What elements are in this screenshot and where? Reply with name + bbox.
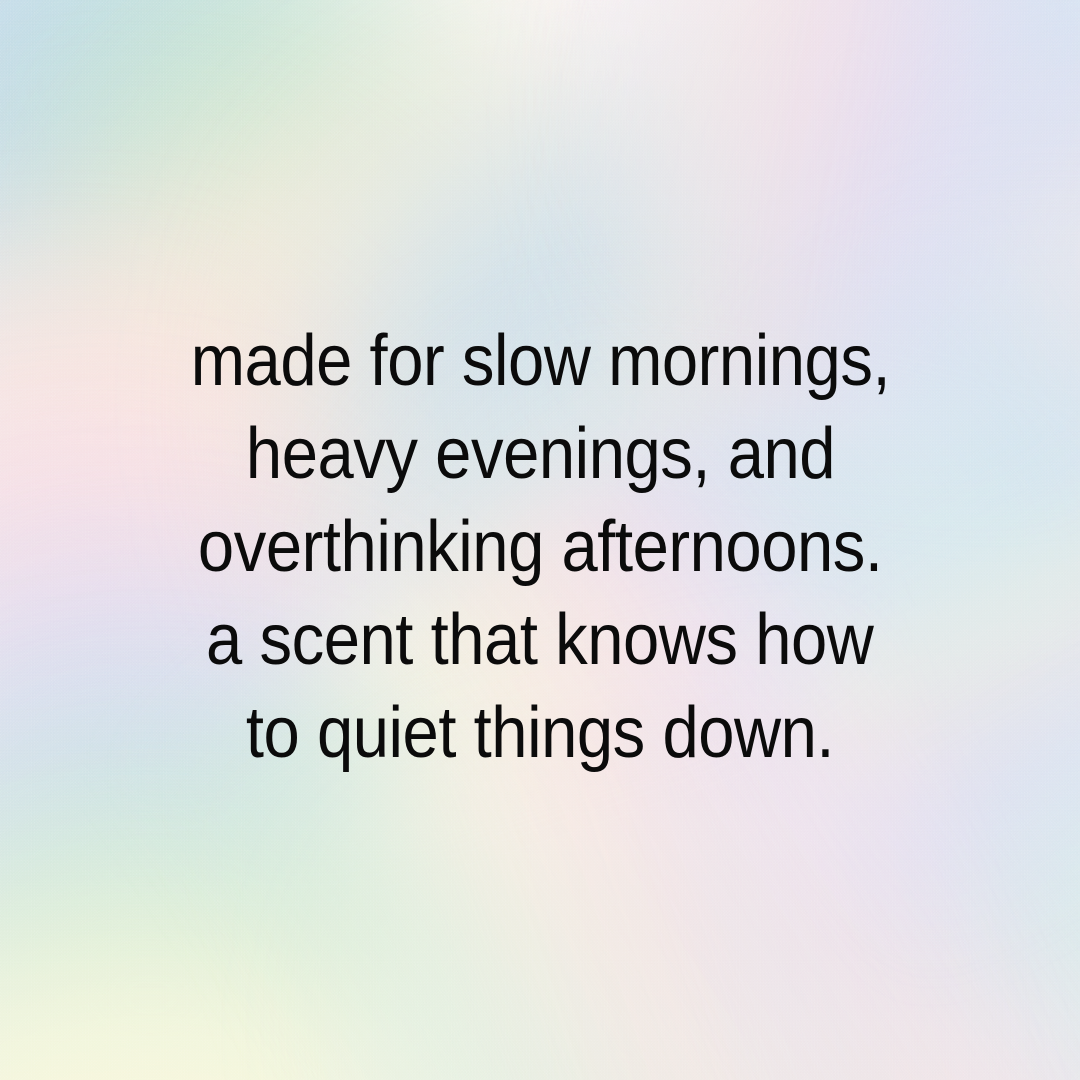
quote-line-4: a scent that knows how xyxy=(206,594,873,687)
quote-block: made for slow mornings, heavy evenings, … xyxy=(0,0,1080,1080)
quote-line-3: overthinking afternoons. xyxy=(198,501,883,594)
quote-line-5: to quiet things down. xyxy=(246,687,834,780)
quote-text: made for slow mornings, heavy evenings, … xyxy=(154,315,927,780)
quote-card-canvas: made for slow mornings, heavy evenings, … xyxy=(0,0,1080,1080)
quote-line-1: made for slow mornings, xyxy=(190,315,889,408)
quote-line-2: heavy evenings, and xyxy=(245,408,834,501)
